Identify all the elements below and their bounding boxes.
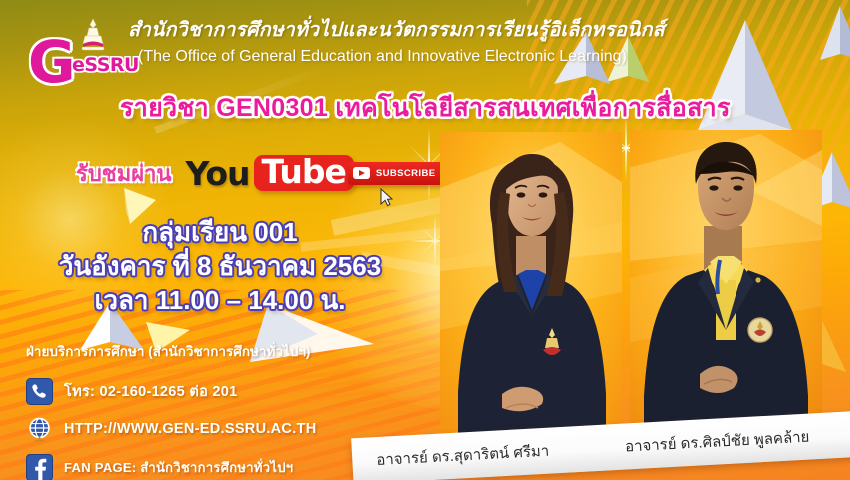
subscribe-button[interactable]: SUBSCRIBE (348, 162, 445, 185)
contact-row-facebook: FAN PAGE: สำนักวิชาการศึกษาทั่วไปฯ (26, 450, 386, 480)
instructor-name-male: อาจารย์ ดร.ศิลป์ชัย พูลคล้าย (624, 425, 810, 459)
ssru-gen-ed-logo: G eSSRU (22, 18, 144, 90)
play-icon (353, 167, 370, 179)
contact-row-phone: โทร: 02-160-1265 ต่อ 201 (26, 374, 386, 408)
class-date: วันอังคาร ที่ 8 ธันวาคม 2563 (0, 249, 440, 283)
subscribe-label: SUBSCRIBE (376, 168, 436, 179)
class-schedule-block: กลุ่มเรียน 001 วันอังคาร ที่ 8 ธันวาคม 2… (0, 215, 440, 317)
phone-icon (26, 378, 53, 405)
course-promo-poster: G eSSRU สำนักวิชาการศึกษาทั่วไปและนวัตกร… (0, 0, 850, 480)
class-time: เวลา 11.00 – 14.00 น. (0, 283, 440, 317)
watch-via-label: รับชมผ่าน (76, 156, 172, 191)
logo-letter-g: G (28, 38, 76, 86)
facebook-page[interactable]: FAN PAGE: สำนักวิชาการศึกษาทั่วไปฯ (64, 457, 293, 478)
phone-number[interactable]: โทร: 02-160-1265 ต่อ 201 (64, 380, 238, 403)
pyramid-shape-corner (820, 4, 850, 64)
contact-block: ฝ่ายบริการการศึกษา (สำนักวิชาการศึกษาทั่… (26, 340, 386, 480)
logo-wordmark: eSSRU (72, 54, 139, 76)
department-label: ฝ่ายบริการการศึกษา (สำนักวิชาการศึกษาทั่… (26, 340, 386, 362)
globe-icon (26, 416, 53, 443)
website-url[interactable]: HTTP://WWW.GEN-ED.SSRU.AC.TH (64, 421, 316, 437)
course-title: รายวิชา GEN0301 เทคโนโลยีสารสนเทศเพื่อกา… (120, 88, 731, 128)
thai-crown-icon (80, 18, 106, 52)
youtube-logo-tube: Tube (254, 155, 354, 191)
contact-row-website: HTTP://WWW.GEN-ED.SSRU.AC.TH (26, 412, 386, 446)
office-english-title: (The Office of General Education and Inn… (138, 48, 627, 66)
instructor-photo-male (630, 130, 822, 452)
office-thai-title: สำนักวิชาการศึกษาทั่วไปและนวัตกรรมการเรี… (128, 14, 665, 45)
youtube-logo-you: You (186, 157, 250, 190)
instructor-photo-female (440, 132, 622, 452)
instructor-name-female: อาจารย์ ดร.สุดาริตน์ ศรีมา (376, 439, 550, 472)
youtube-watch-row: รับชมผ่าน YouTube SUBSCRIBE (76, 150, 444, 196)
class-section: กลุ่มเรียน 001 (0, 215, 440, 249)
facebook-icon (26, 454, 53, 480)
youtube-logo[interactable]: YouTube (186, 155, 354, 191)
